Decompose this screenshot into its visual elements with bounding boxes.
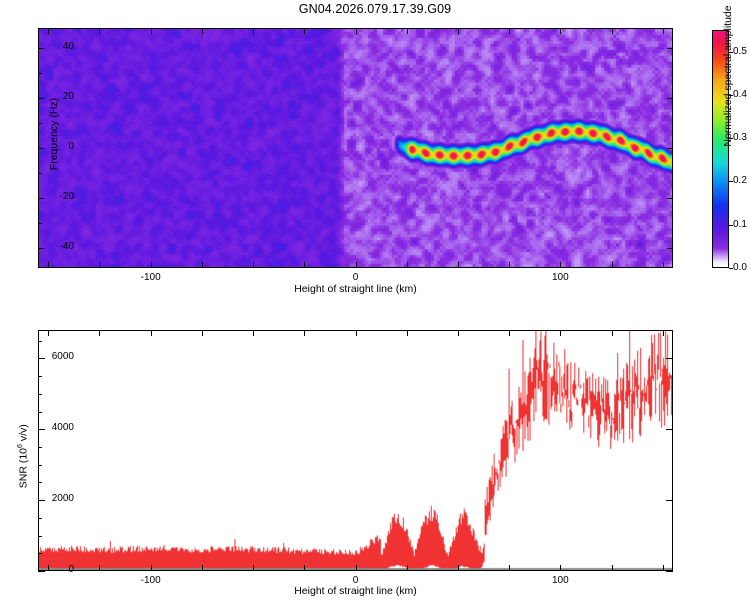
snr-y-minor-tick [38, 518, 42, 519]
spectrogram-y-tick-label: -40 [34, 241, 74, 252]
colorbar-tick-label: 0.4 [733, 89, 747, 100]
snr-y-minor-tick [38, 500, 42, 501]
spectrogram-y-minor-tick [38, 48, 42, 49]
spectrogram-x-tick-mark [202, 28, 203, 34]
snr-x-tick-mark [151, 565, 152, 571]
colorbar-tick-mark [729, 268, 733, 269]
spectrogram-x-tick-mark [304, 262, 305, 268]
snr-y-minor-tick [38, 376, 42, 377]
spectrogram-x-tick-mark [356, 28, 357, 34]
spectrogram-y-tick-mark [667, 248, 673, 249]
spectrogram-x-tick-label: -100 [121, 272, 181, 283]
snr-x-tick-mark [509, 565, 510, 571]
snr-y-label-text: SNR (10 [17, 448, 29, 488]
snr-y-minor-tick [38, 571, 42, 572]
snr-y-minor-tick [38, 429, 42, 430]
snr-y-tick-label: 0 [28, 564, 74, 575]
snr-x-tick-mark [407, 330, 408, 336]
snr-x-tick-mark [304, 565, 305, 571]
page-title: GN04.2026.079.17.39.G09 [0, 2, 750, 16]
spectrogram-x-tick-mark [356, 262, 357, 268]
spectrogram-y-minor-tick [38, 148, 42, 149]
snr-y-minor-tick [38, 358, 42, 359]
snr-y-minor-tick [38, 447, 42, 448]
spectrogram-y-minor-tick [38, 173, 42, 174]
colorbar-tick-label: 0.1 [733, 219, 747, 230]
spectrogram-x-tick-mark [509, 28, 510, 34]
snr-y-label-exponent: 6 [17, 444, 24, 448]
spectrogram-x-tick-mark [612, 28, 613, 34]
snr-x-tick-mark [560, 565, 561, 571]
spectrogram-y-minor-tick [38, 123, 42, 124]
snr-x-tick-label: -100 [121, 575, 181, 586]
spectrogram-x-tick-mark [48, 262, 49, 268]
colorbar-tick-mark [729, 52, 733, 53]
spectrogram-x-axis-label: Height of straight line (km) [38, 283, 673, 295]
snr-x-tick-mark [612, 330, 613, 336]
snr-x-tick-mark [99, 565, 100, 571]
snr-y-tick-label: 4000 [28, 422, 74, 433]
spectrogram-x-tick-mark [407, 28, 408, 34]
spectrogram-x-tick-mark [663, 28, 664, 34]
spectrogram-y-tick-mark [667, 198, 673, 199]
snr-x-tick-mark [356, 565, 357, 571]
snr-y-minor-tick [38, 412, 42, 413]
spectrogram-x-tick-mark [663, 262, 664, 268]
spectrogram-y-tick-label: -20 [34, 191, 74, 202]
colorbar-tick-mark [729, 225, 733, 226]
snr-panel [38, 330, 673, 571]
snr-x-tick-mark [612, 565, 613, 571]
spectrogram-y-tick-label: 0 [34, 141, 74, 152]
spectrogram-x-tick-mark [560, 262, 561, 268]
snr-x-tick-mark [560, 330, 561, 336]
spectrogram-y-tick-mark [667, 98, 673, 99]
snr-trace [39, 331, 672, 570]
snr-y-minor-tick [38, 394, 42, 395]
snr-y-minor-tick [38, 553, 42, 554]
snr-x-tick-mark [151, 330, 152, 336]
snr-x-tick-mark [253, 565, 254, 571]
snr-x-tick-mark [458, 330, 459, 336]
spectrogram-x-tick-mark [509, 262, 510, 268]
spectrogram-x-tick-mark [458, 262, 459, 268]
snr-x-tick-mark [509, 330, 510, 336]
spectrogram-x-tick-mark [253, 28, 254, 34]
snr-x-tick-mark [356, 330, 357, 336]
spectrogram-x-tick-mark [99, 28, 100, 34]
snr-y-minor-tick [38, 341, 42, 342]
spectrogram-x-tick-mark [99, 262, 100, 268]
spectrogram-x-tick-mark [202, 262, 203, 268]
spectrogram-x-tick-label: 100 [530, 272, 590, 283]
snr-x-tick-mark [99, 330, 100, 336]
snr-x-tick-mark [253, 330, 254, 336]
snr-y-tick-label: 6000 [28, 351, 74, 362]
snr-x-tick-mark [48, 330, 49, 336]
spectrogram-panel [38, 28, 673, 268]
spectrogram-x-tick-mark [151, 28, 152, 34]
spectrogram-image [39, 29, 672, 267]
colorbar-tick-label: 0.5 [733, 46, 747, 57]
spectrogram-x-tick-mark [304, 28, 305, 34]
colorbar-tick-mark [729, 95, 733, 96]
spectrogram-y-tick-label: 20 [34, 91, 74, 102]
snr-x-tick-mark [202, 565, 203, 571]
snr-x-tick-mark [407, 565, 408, 571]
spectrogram-x-tick-mark [612, 262, 613, 268]
spectrogram-x-tick-mark [151, 262, 152, 268]
snr-x-tick-mark [304, 330, 305, 336]
spectrogram-x-tick-mark [253, 262, 254, 268]
spectrogram-y-minor-tick [38, 98, 42, 99]
figure-root: GN04.2026.079.17.39.G09 Frequency (Hz) H… [0, 0, 750, 600]
snr-y-tick-mark [666, 500, 673, 501]
snr-y-tick-label: 2000 [28, 493, 74, 504]
spectrogram-x-tick-mark [407, 262, 408, 268]
snr-y-minor-tick [38, 482, 42, 483]
snr-x-tick-label: 100 [530, 575, 590, 586]
spectrogram-x-tick-mark [560, 28, 561, 34]
snr-y-tick-mark [666, 571, 673, 572]
colorbar-tick-label: 0.0 [733, 262, 747, 273]
snr-x-tick-mark [202, 330, 203, 336]
spectrogram-y-minor-tick [38, 73, 42, 74]
snr-x-tick-label: 0 [326, 575, 386, 586]
snr-x-tick-mark [663, 565, 664, 571]
snr-x-axis-label: Height of straight line (km) [38, 585, 673, 597]
snr-x-tick-mark [663, 330, 664, 336]
colorbar-tick-label: 0.3 [733, 132, 747, 143]
spectrogram-y-tick-mark [667, 48, 673, 49]
snr-x-tick-mark [458, 565, 459, 571]
snr-y-tick-mark [666, 358, 673, 359]
snr-x-tick-mark [48, 565, 49, 571]
colorbar-tick-mark [729, 181, 733, 182]
snr-y-tick-mark [666, 429, 673, 430]
snr-y-minor-tick [38, 536, 42, 537]
spectrogram-y-minor-tick [38, 248, 42, 249]
spectrogram-x-tick-mark [458, 28, 459, 34]
colorbar-tick-mark [729, 138, 733, 139]
spectrogram-y-tick-label: 40 [34, 41, 74, 52]
snr-y-minor-tick [38, 465, 42, 466]
spectrogram-x-tick-mark [48, 28, 49, 34]
colorbar-tick-label: 0.2 [733, 175, 747, 186]
spectrogram-x-tick-label: 0 [326, 272, 386, 283]
spectrogram-y-minor-tick [38, 223, 42, 224]
spectrogram-y-tick-mark [667, 148, 673, 149]
spectrogram-y-minor-tick [38, 198, 42, 199]
